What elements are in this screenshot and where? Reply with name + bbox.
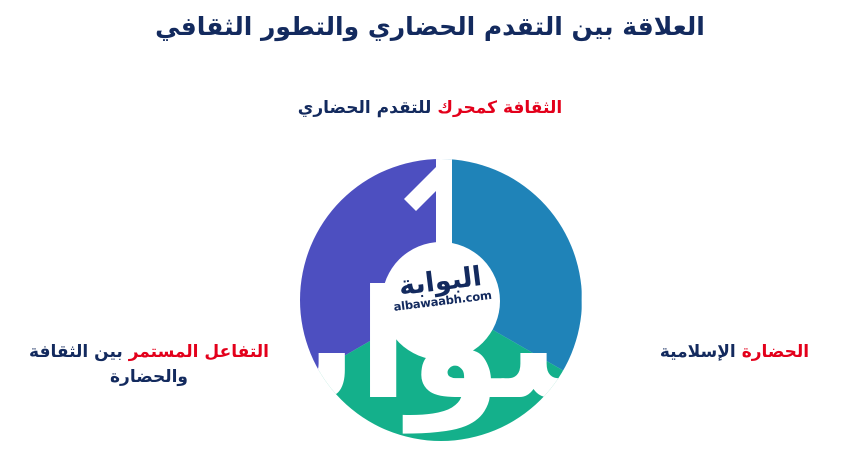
callout-top: الثقافة كمحرك للتقدم الحضاري bbox=[0, 96, 860, 121]
center-logo-hub: البوابة albawaabh.com bbox=[382, 242, 500, 360]
logo-lockup: البوابة albawaabh.com bbox=[382, 261, 500, 315]
callout-right-accent: الحضارة bbox=[742, 342, 809, 362]
callout-left-accent: التفاعل المستمر bbox=[129, 342, 269, 362]
callout-top-base: للتقدم الحضاري bbox=[298, 98, 432, 118]
callout-right-base: الإسلامية bbox=[660, 342, 736, 362]
callout-right: الحضارة الإسلامية bbox=[627, 340, 842, 365]
callout-top-accent: الثقافة كمحرك bbox=[437, 98, 562, 118]
callout-left: التفاعل المستمر بين الثقافة والحضارة bbox=[6, 340, 292, 389]
page-title: العلاقة بين التقدم الحضاري والتطور الثقا… bbox=[0, 12, 860, 43]
infographic-canvas: العلاقة بين التقدم الحضاري والتطور الثقا… bbox=[0, 0, 860, 465]
